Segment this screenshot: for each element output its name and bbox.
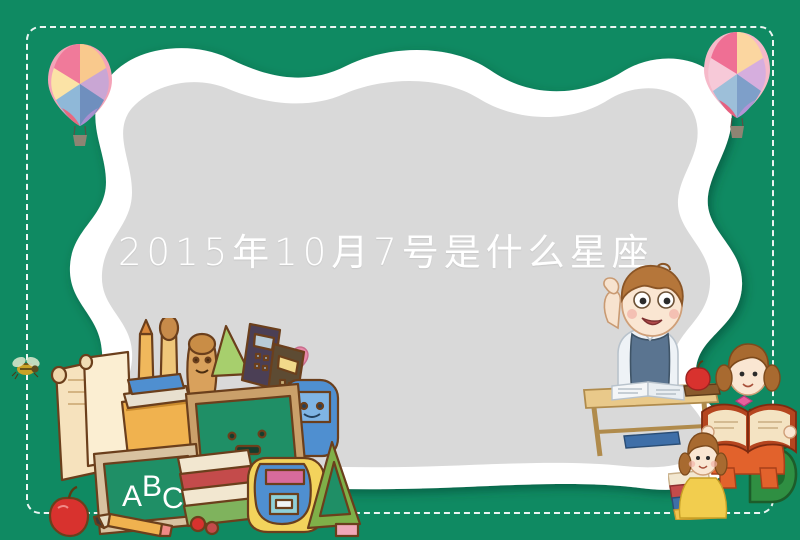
- poster-canvas: 2015年10月7号是什么星座: [0, 0, 800, 540]
- svg-text:A: A: [122, 480, 142, 513]
- small-girl-illustration: [668, 428, 738, 520]
- hot-air-balloon-icon: [700, 30, 774, 142]
- svg-text:C: C: [162, 482, 184, 515]
- hot-air-balloon-icon: [44, 42, 116, 150]
- svg-text:B: B: [142, 470, 162, 503]
- school-supplies-illustration: A B C: [36, 318, 366, 540]
